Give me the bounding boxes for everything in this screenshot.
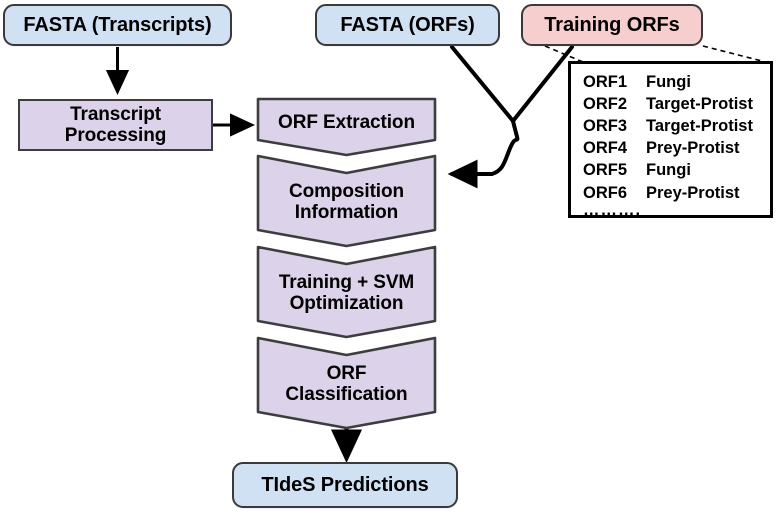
list-item: ORF2 Target-Protist xyxy=(583,93,760,115)
edge-fasta-orfs-to-junction xyxy=(452,47,513,121)
orf-id: ORF2 xyxy=(583,93,646,115)
node-tides-predictions-label: TIdeS Predictions xyxy=(261,474,428,496)
node-fasta-transcripts-label: FASTA (Transcripts) xyxy=(23,14,211,36)
node-transcript-processing-line2: Processing xyxy=(65,125,166,146)
workflow-diagram: FASTA (Transcripts) FASTA (ORFs) Trainin… xyxy=(0,0,777,518)
list-ellipsis: ………. xyxy=(583,202,760,219)
training-svm-line2: Optimization xyxy=(262,293,431,314)
orf-label: Fungi xyxy=(646,71,760,93)
node-fasta-orfs-label: FASTA (ORFs) xyxy=(340,14,474,36)
node-fasta-transcripts[interactable]: FASTA (Transcripts) xyxy=(3,4,232,46)
node-tides-predictions[interactable]: TIdeS Predictions xyxy=(232,462,458,508)
edge-training-orfs-to-junction xyxy=(513,47,572,121)
orf-id: ORF5 xyxy=(583,159,646,181)
node-orf-extraction[interactable]: ORF Extraction xyxy=(256,97,437,157)
node-composition-information-label: Composition Information xyxy=(256,181,437,224)
node-transcript-processing-line1: Transcript xyxy=(70,104,161,125)
orf-label: Prey-Protist xyxy=(646,137,760,159)
node-fasta-orfs[interactable]: FASTA (ORFs) xyxy=(315,4,500,46)
node-training-svm-optimization[interactable]: Training + SVM Optimization xyxy=(256,245,437,339)
node-training-orfs-label: Training ORFs xyxy=(544,14,679,36)
node-transcript-processing[interactable]: Transcript Processing xyxy=(18,99,213,151)
list-item: ORF3 Target-Protist xyxy=(583,115,760,137)
orf-id: ORF1 xyxy=(583,71,646,93)
composition-line1: Composition xyxy=(262,181,431,202)
node-orf-classification-label: ORF Classification xyxy=(256,363,437,406)
orf-id: ORF3 xyxy=(583,115,646,137)
orf-label: Prey-Protist xyxy=(646,182,760,204)
orf-classification-line2: Classification xyxy=(262,384,431,405)
list-item: ORF5 Fungi xyxy=(583,159,760,181)
edge-training-dashed-left xyxy=(545,46,583,62)
orf-label: Target-Protist xyxy=(646,93,760,115)
training-svm-line1: Training + SVM xyxy=(262,272,431,293)
node-composition-information[interactable]: Composition Information xyxy=(256,154,437,248)
orf-classification-line1: ORF xyxy=(262,363,431,384)
list-item: ORF1 Fungi xyxy=(583,71,760,93)
node-orf-classification[interactable]: ORF Classification xyxy=(256,336,437,430)
edge-junction-to-orf-extraction xyxy=(452,121,517,174)
node-orf-extraction-label: ORF Extraction xyxy=(256,112,437,133)
orf-id: ORF4 xyxy=(583,137,646,159)
orf-label: Fungi xyxy=(646,159,760,181)
node-training-svm-optimization-label: Training + SVM Optimization xyxy=(256,272,437,315)
edge-training-dashed-right xyxy=(703,46,762,61)
list-item: ORF4 Prey-Protist xyxy=(583,137,760,159)
node-training-orfs[interactable]: Training ORFs xyxy=(521,4,703,46)
orf-label: Target-Protist xyxy=(646,115,760,137)
training-orf-list-box: ORF1 Fungi ORF2 Target-Protist ORF3 Targ… xyxy=(568,61,773,218)
composition-line2: Information xyxy=(262,202,431,223)
